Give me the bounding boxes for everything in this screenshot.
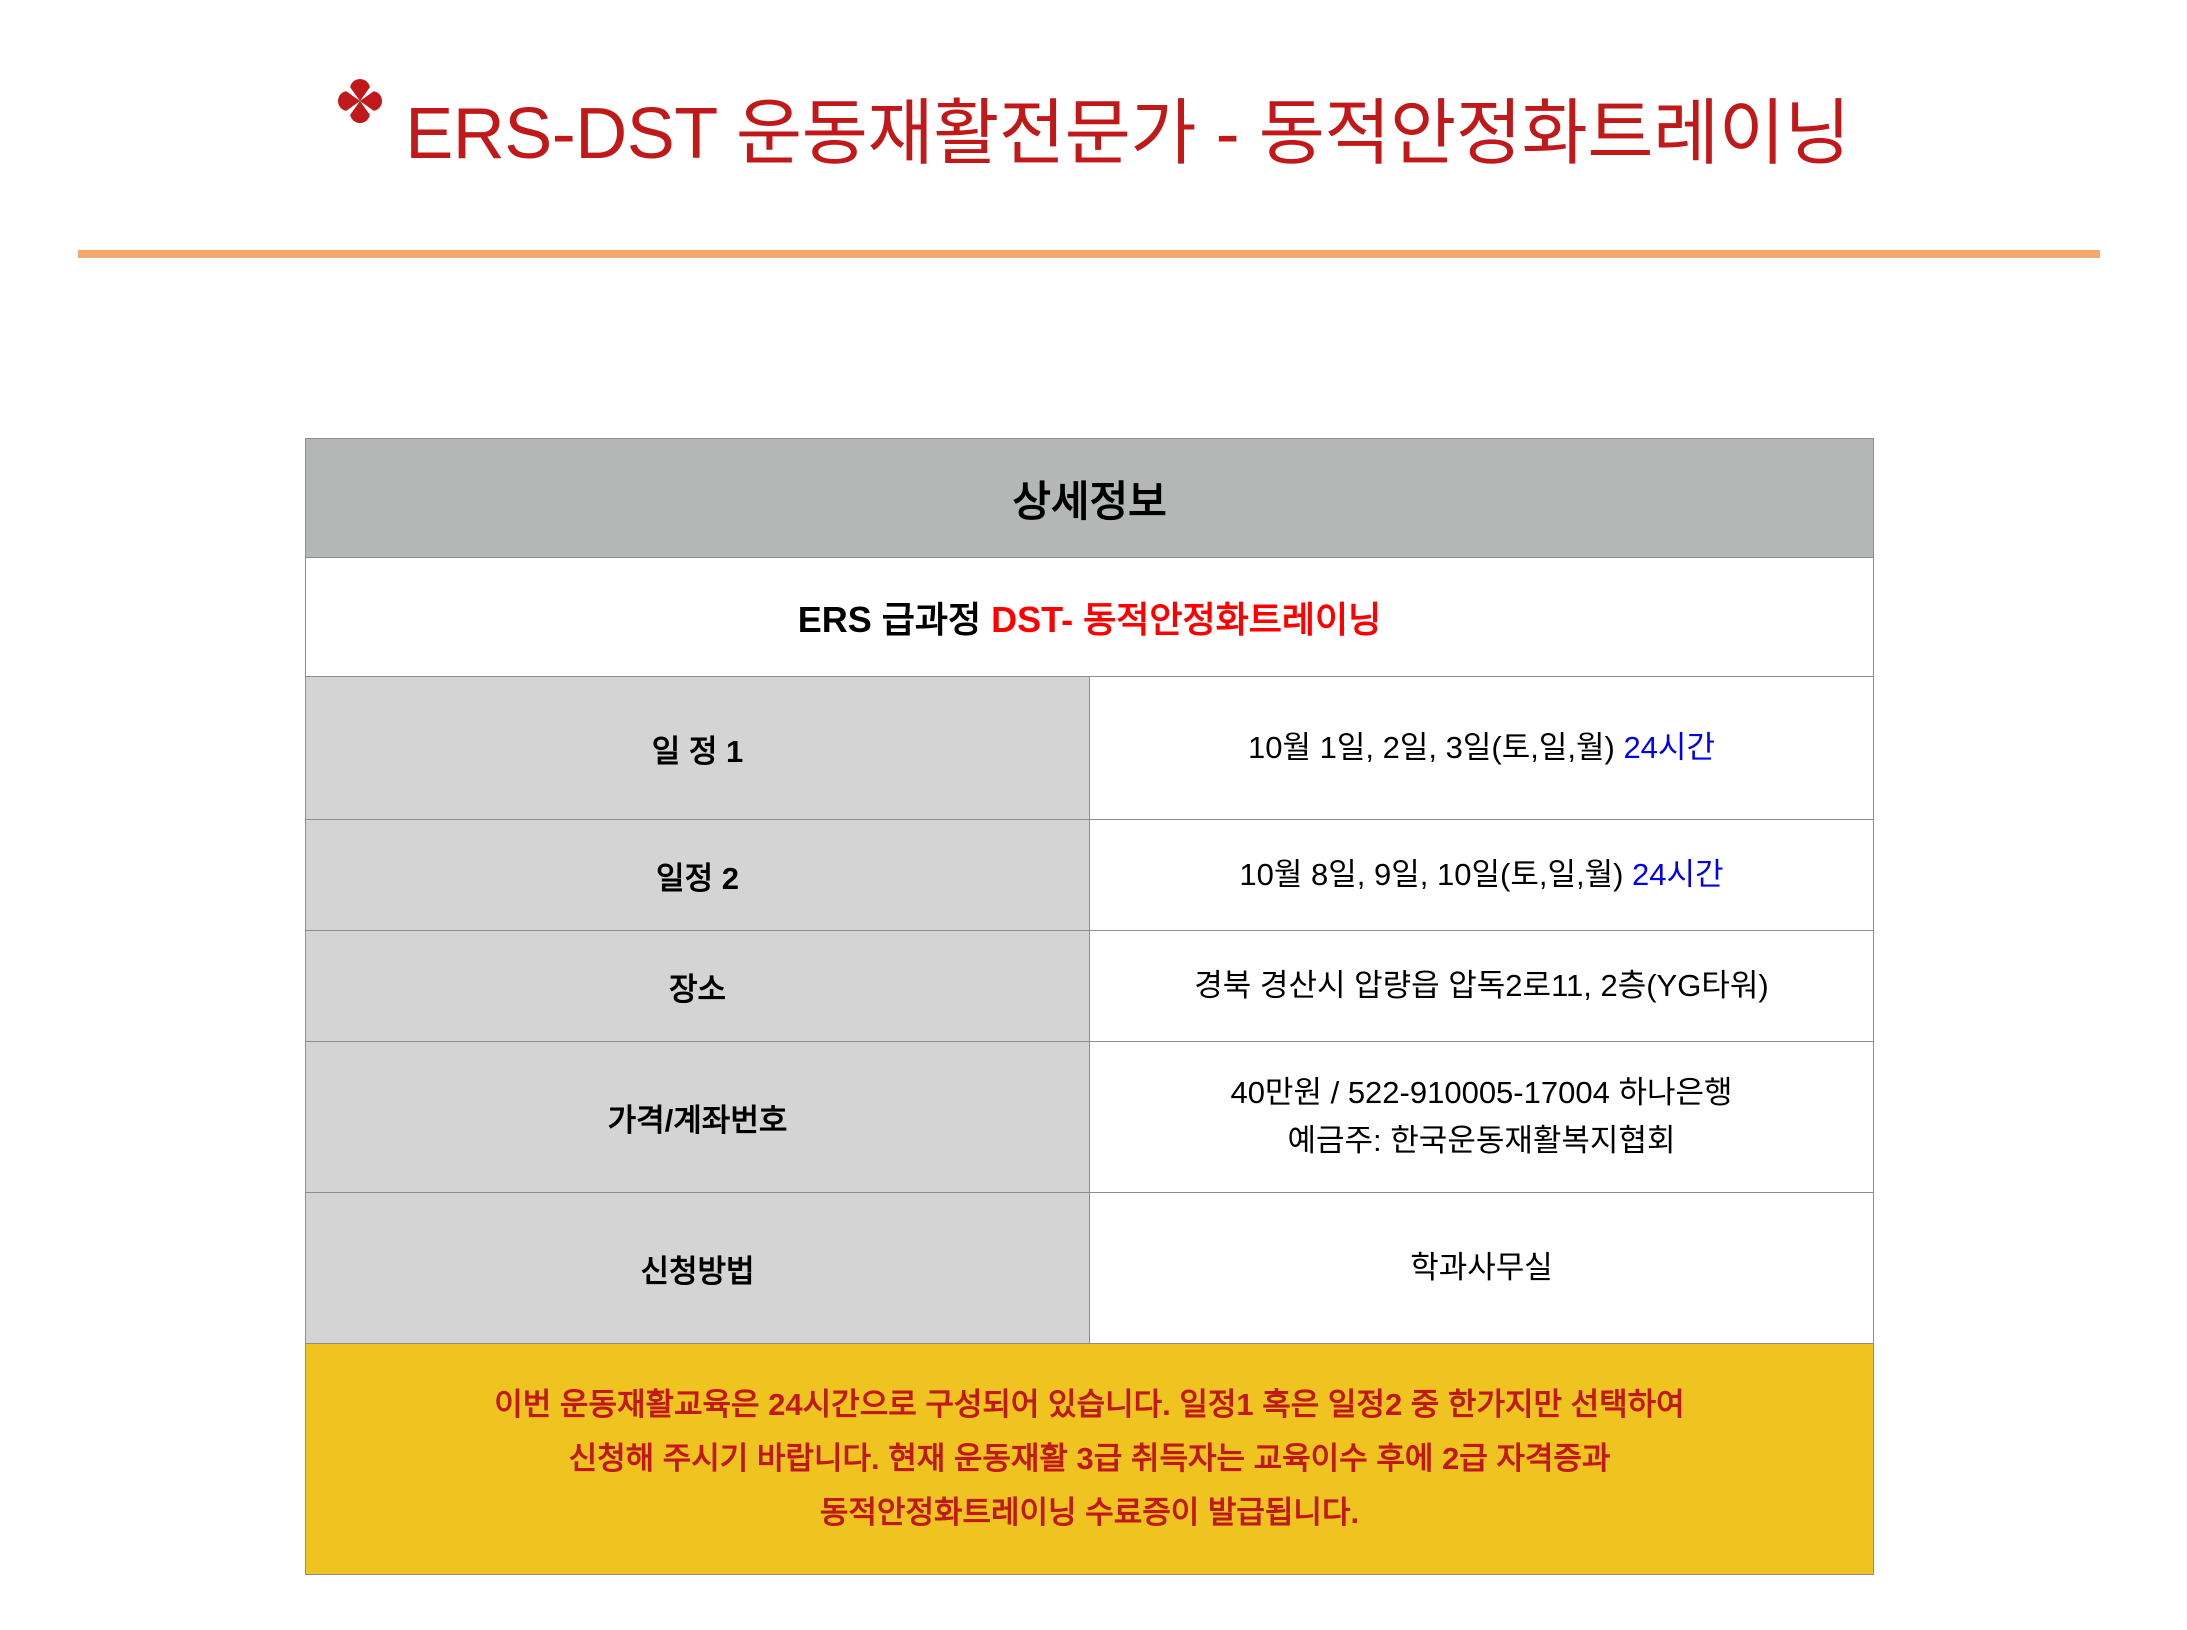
- price-account-line-1: 40만원 / 522-910005-17004 하나은행: [1090, 1069, 1873, 1117]
- row-value-schedule-2: 10월 8일, 9일, 10일(토,일,월) 24시간: [1090, 820, 1874, 931]
- row-value-schedule-1: 10월 1일, 2일, 3일(토,일,월) 24시간: [1090, 677, 1874, 820]
- table-row: 일정 2 10월 8일, 9일, 10일(토,일,월) 24시간: [306, 820, 1874, 931]
- page-title-text: ERS-DST 운동재활전문가 - 동적안정화트레이닝: [405, 98, 1850, 170]
- table-row: 신청방법 학과사무실: [306, 1193, 1874, 1344]
- schedule-1-hours: 24시간: [1623, 730, 1715, 765]
- price-account-line-2: 예금주: 한국운동재활복지협회: [1090, 1117, 1873, 1165]
- schedule-1-date: 10월 1일, 2일, 3일(토,일,월): [1248, 730, 1623, 765]
- row-value-price-account: 40만원 / 522-910005-17004 하나은행 예금주: 한국운동재활…: [1090, 1042, 1874, 1193]
- page-title: ERS-DST 운동재활전문가 - 동적안정화트레이닝: [0, 78, 2187, 170]
- notice-banner: 이번 운동재활교육은 24시간으로 구성되어 있습니다. 일정1 혹은 일정2 …: [306, 1344, 1874, 1575]
- row-label-schedule-1: 일 정 1: [306, 677, 1090, 820]
- course-subtitle: ERS 급과정 DST- 동적안정화트레이닝: [306, 558, 1874, 677]
- table-header-row: 상세정보: [306, 439, 1874, 558]
- table-subtitle-row: ERS 급과정 DST- 동적안정화트레이닝: [306, 558, 1874, 677]
- table-row: 장소 경북 경산시 압량읍 압독2로11, 2층(YG타워): [306, 931, 1874, 1042]
- row-label-location: 장소: [306, 931, 1090, 1042]
- course-subtitle-black: ERS 급과정: [798, 599, 991, 640]
- title-divider: [78, 250, 2100, 258]
- notice-row: 이번 운동재활교육은 24시간으로 구성되어 있습니다. 일정1 혹은 일정2 …: [306, 1344, 1874, 1575]
- flower-clover-icon: [337, 78, 383, 133]
- schedule-2-hours: 24시간: [1632, 857, 1724, 892]
- row-label-price-account: 가격/계좌번호: [306, 1042, 1090, 1193]
- course-subtitle-red: DST- 동적안정화트레이닝: [991, 599, 1381, 640]
- schedule-2-date: 10월 8일, 9일, 10일(토,일,월): [1239, 857, 1632, 892]
- row-label-schedule-2: 일정 2: [306, 820, 1090, 931]
- row-value-application-method: 학과사무실: [1090, 1193, 1874, 1344]
- table-row: 가격/계좌번호 40만원 / 522-910005-17004 하나은행 예금주…: [306, 1042, 1874, 1193]
- notice-line-2: 신청해 주시기 바랍니다. 현재 운동재활 3급 취득자는 교육이수 후에 2급…: [306, 1432, 1873, 1486]
- notice-line-1: 이번 운동재활교육은 24시간으로 구성되어 있습니다. 일정1 혹은 일정2 …: [306, 1378, 1873, 1432]
- table-row: 일 정 1 10월 1일, 2일, 3일(토,일,월) 24시간: [306, 677, 1874, 820]
- row-value-location: 경북 경산시 압량읍 압독2로11, 2층(YG타워): [1090, 931, 1874, 1042]
- table-header-title: 상세정보: [306, 439, 1874, 558]
- notice-line-3: 동적안정화트레이닝 수료증이 발급됩니다.: [306, 1486, 1873, 1540]
- row-label-application-method: 신청방법: [306, 1193, 1090, 1344]
- course-details-table: 상세정보 ERS 급과정 DST- 동적안정화트레이닝 일 정 1 10월 1일…: [305, 438, 1874, 1575]
